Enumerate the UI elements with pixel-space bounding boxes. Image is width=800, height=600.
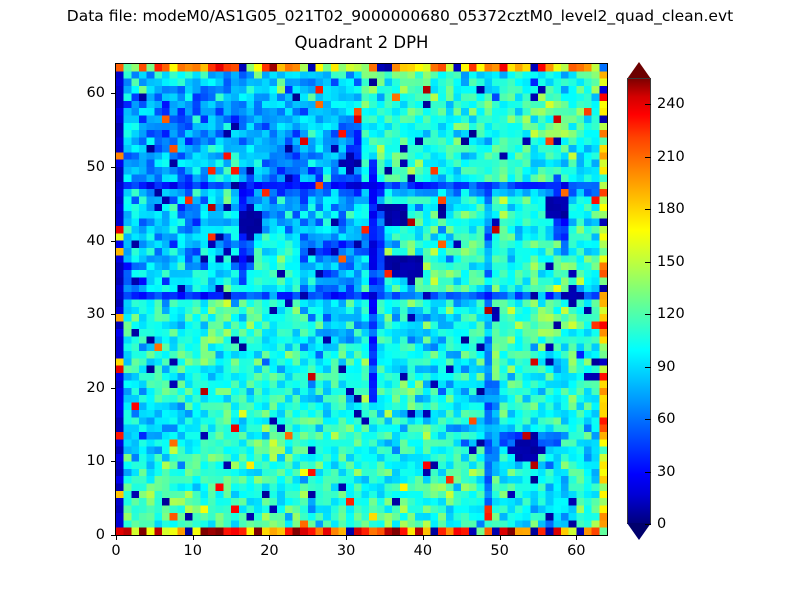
colorbar-tick-mark [645, 524, 651, 525]
x-tick-mark [423, 536, 424, 540]
axes-title: Quadrant 2 DPH [115, 33, 608, 53]
y-tick-mark [111, 241, 115, 242]
colorbar-under-arrow [627, 523, 651, 540]
x-tick-label: 60 [567, 543, 585, 559]
colorbar-tick-mark [645, 419, 651, 420]
colorbar-tick-label: 0 [657, 516, 666, 532]
heatmap-axes [115, 63, 608, 536]
y-tick-mark [111, 461, 115, 462]
colorbar-tick-label: 240 [657, 96, 685, 112]
y-tick-mark [111, 388, 115, 389]
colorbar-tick-mark [645, 314, 651, 315]
colorbar-over-arrow [627, 62, 651, 79]
x-tick-label: 10 [183, 543, 201, 559]
y-tick-label: 10 [73, 453, 105, 469]
colorbar-tick-label: 150 [657, 254, 685, 270]
y-tick-label: 40 [73, 233, 105, 249]
y-tick-mark [111, 535, 115, 536]
colorbar-gradient [627, 78, 651, 524]
y-tick-mark [111, 93, 115, 94]
colorbar-tick-label: 120 [657, 306, 685, 322]
x-tick-mark [346, 536, 347, 540]
y-tick-mark [111, 314, 115, 315]
colorbar-tick-label: 60 [657, 411, 675, 427]
y-tick-mark [111, 167, 115, 168]
colorbar [627, 62, 651, 540]
colorbar-tick-mark [645, 262, 651, 263]
x-tick-label: 30 [337, 543, 355, 559]
x-tick-label: 50 [490, 543, 508, 559]
x-tick-mark [500, 536, 501, 540]
y-tick-label: 30 [73, 306, 105, 322]
y-tick-label: 50 [73, 159, 105, 175]
colorbar-tick-mark [645, 157, 651, 158]
colorbar-tick-label: 180 [657, 201, 685, 217]
x-tick-mark [193, 536, 194, 540]
colorbar-tick-mark [645, 367, 651, 368]
x-tick-mark [116, 536, 117, 540]
heatmap-image [116, 64, 607, 535]
x-tick-label: 0 [111, 543, 120, 559]
y-tick-label: 20 [73, 380, 105, 396]
colorbar-tick-label: 30 [657, 464, 675, 480]
y-tick-label: 60 [73, 85, 105, 101]
x-tick-mark [576, 536, 577, 540]
x-tick-mark [269, 536, 270, 540]
x-tick-label: 20 [260, 543, 278, 559]
figure-canvas: Data file: modeM0/AS1G05_021T02_90000006… [0, 0, 800, 600]
colorbar-tick-label: 90 [657, 359, 675, 375]
colorbar-tick-label: 210 [657, 149, 685, 165]
y-tick-label: 0 [73, 527, 105, 543]
data-file-suptitle: Data file: modeM0/AS1G05_021T02_90000006… [0, 7, 800, 26]
colorbar-tick-mark [645, 472, 651, 473]
x-tick-label: 40 [414, 543, 432, 559]
colorbar-tick-mark [645, 104, 651, 105]
colorbar-tick-mark [645, 209, 651, 210]
